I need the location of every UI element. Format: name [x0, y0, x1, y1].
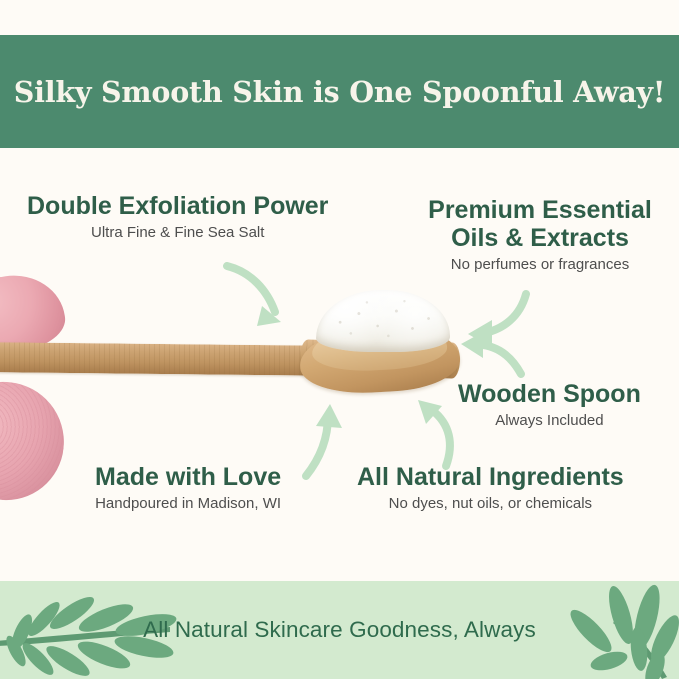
finger-lower	[0, 376, 70, 506]
feature-title: Double Exfoliation Power	[27, 192, 328, 220]
feature-subtitle: No perfumes or fragrances	[409, 255, 671, 275]
header-banner: Silky Smooth Skin is One Spoonful Away!	[0, 35, 679, 148]
feature-wooden-spoon: Wooden Spoon Always Included	[458, 380, 641, 431]
feature-made-with-love: Made with Love Handpoured in Madison, WI	[95, 463, 281, 514]
feature-title: All Natural Ingredients	[357, 463, 624, 491]
feature-subtitle: Always Included	[458, 411, 641, 431]
feature-subtitle: No dyes, nut oils, or chemicals	[357, 494, 624, 514]
page-title: Silky Smooth Skin is One Spoonful Away!	[14, 75, 665, 109]
curved-arrow-down-right-icon	[205, 262, 315, 347]
salt-grain-texture	[316, 290, 450, 352]
curved-arrow-up-right-icon	[288, 400, 368, 482]
spoon-handle	[0, 342, 334, 376]
feature-subtitle: Ultra Fine & Fine Sea Salt	[27, 223, 328, 243]
feature-double-exfoliation: Double Exfoliation Power Ultra Fine & Fi…	[27, 192, 328, 243]
feature-title-line2: Oils & Extracts	[409, 224, 671, 252]
footer-banner: All Natural Skincare Goodness, Always	[0, 581, 679, 679]
feature-title: Made with Love	[95, 463, 281, 491]
footer-tagline: All Natural Skincare Goodness, Always	[0, 581, 679, 679]
feature-title: Wooden Spoon	[458, 380, 641, 408]
feature-title-line1: Premium Essential	[409, 196, 671, 224]
infographic-canvas: Silky Smooth Skin is One Spoonful Away! …	[0, 0, 679, 679]
feature-subtitle: Handpoured in Madison, WI	[95, 494, 281, 514]
feature-premium-essential-oils: Premium Essential Oils & Extracts No per…	[409, 196, 671, 275]
feature-all-natural-ingredients: All Natural Ingredients No dyes, nut oil…	[357, 463, 624, 514]
